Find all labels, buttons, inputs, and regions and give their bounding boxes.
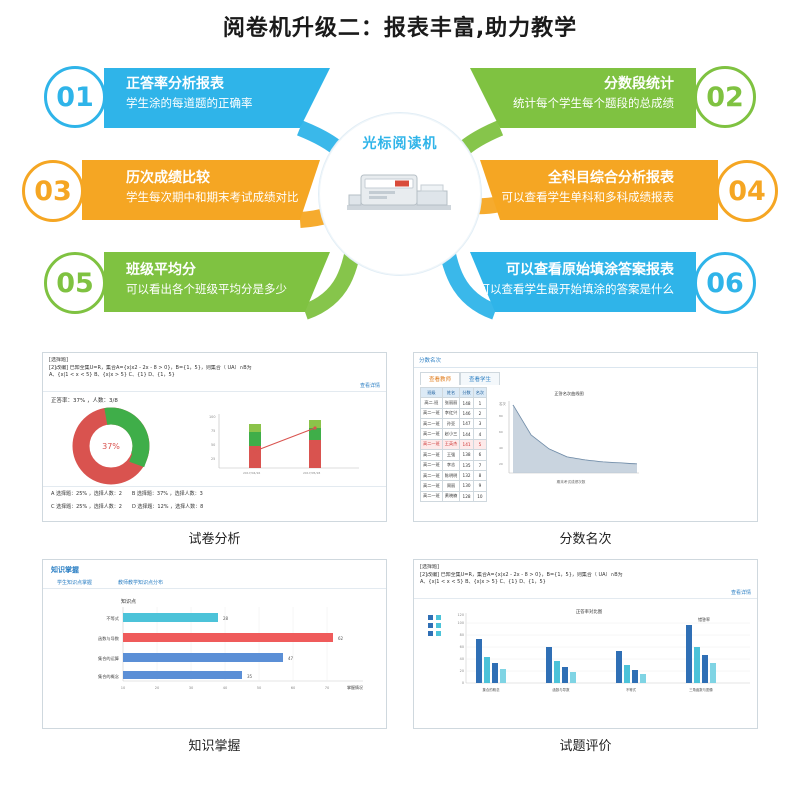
svg-text:50: 50 [211, 443, 215, 447]
badge-number-06: 06 [694, 252, 756, 314]
card-body-exam-analysis: [选择题] [2]改编] 已知全集U=R，集合A={x|x2 - 2x - 8 … [42, 352, 387, 522]
svg-text:10: 10 [121, 686, 126, 690]
svg-text:47: 47 [288, 656, 294, 661]
chart-title-eval: 正答率对比图 [576, 608, 603, 615]
question-line-1: [2]改编] 已知全集U=R，集合A={x|x2 - 2x - 8 > 0}，B… [49, 365, 380, 373]
svg-text:80: 80 [499, 414, 503, 418]
cat-label-3: 集合的概念 [98, 673, 120, 680]
feature-item-03: 历次成绩比较 学生每次期中和期末考试成绩对比 [118, 164, 307, 210]
feature-desc-06: 可以查看学生最开始填涂的答案是什么 [479, 281, 675, 298]
option-stat-b: B 选择题：37% ，选择人数：3 [132, 490, 203, 497]
scanner-machine-icon [341, 161, 459, 223]
feature-desc-03: 学生每次期中和期末考试成绩对比 [126, 189, 299, 206]
accuracy-stats: 正答率：37% ，人数：3/8 [43, 392, 386, 406]
question-line-2: A、{x|1 < x < 5} B、{x|x > 5} C、{1} D、{1，5… [49, 372, 380, 380]
rank-line-chart: 正答名次曲线图 名次 8060 4020 期末考试成绩次数 [491, 387, 646, 502]
svg-text:35: 35 [247, 674, 253, 679]
cat-label-0: 不等式 [106, 615, 119, 622]
svg-text:80: 80 [460, 633, 464, 637]
option-stats-row-2: C 选择题：25% ，选择人数：2 D 选择题：12% ，选择人数：8 [43, 500, 386, 513]
bar-0 [123, 613, 218, 622]
table-row: 高二一班李志1357 [421, 460, 487, 470]
y-axis-label: 名次 [499, 401, 506, 406]
badge-number-01: 01 [44, 66, 106, 128]
card-body-question-evaluation: [选择题] [2]改编] 已知全集U=R，集合A={x|x2 - 2x - 8 … [413, 559, 758, 729]
bar-2 [123, 653, 283, 662]
feature-item-04: 全科目综合分析报表 可以查看学生单科和多科成绩报表 [494, 164, 683, 210]
svg-text:60: 60 [460, 645, 464, 649]
bar-3 [123, 671, 242, 679]
legend [428, 615, 441, 636]
panel-header-score-rank: 分数名次 [414, 353, 757, 368]
table-row-highlighted: 高二一班王英杰1415 [421, 439, 487, 449]
option-stat-d: D 选择题：12% ，选择人数：8 [132, 503, 203, 510]
card-body-score-rank: 分数名次 查看教师 查看学生 班级 姓名 分数 名次 [413, 352, 758, 522]
card-exam-analysis: [选择题] [2]改编] 已知全集U=R，集合A={x|x2 - 2x - 8 … [42, 352, 387, 557]
badge-number-04: 04 [716, 160, 778, 222]
question-box-2: [选择题] [2]改编] 已知全集U=R，集合A={x|x2 - 2x - 8 … [414, 560, 757, 589]
table-row: 高二一班王强1386 [421, 450, 487, 460]
tab-view-student[interactable]: 查看学生 [460, 372, 500, 385]
knowledge-bar-chart: 知识点 28 62 47 35 [43, 589, 387, 707]
svg-text:100: 100 [209, 415, 215, 419]
feature-title-01: 正答率分析报表 [126, 74, 253, 95]
svg-text:100: 100 [458, 621, 464, 625]
tab-view-teacher[interactable]: 查看教师 [420, 372, 460, 385]
col-rank: 名次 [473, 388, 486, 398]
feature-desc-02: 统计每个学生每个题段的总成绩 [513, 95, 674, 112]
svg-text:70: 70 [325, 686, 330, 690]
feature-title-06: 可以查看原始填涂答案报表 [479, 260, 675, 281]
svg-text:20: 20 [155, 686, 160, 690]
x-tick-3: 三角函数与图像 [689, 687, 713, 692]
card-caption-knowledge: 知识掌握 [42, 729, 387, 764]
feature-title-05: 班级平均分 [126, 260, 287, 281]
feature-item-06: 可以查看原始填涂答案报表 可以查看学生最开始填涂的答案是什么 [471, 256, 683, 302]
badge-number-03: 03 [22, 160, 84, 222]
svg-text:60: 60 [499, 430, 503, 434]
question-line-0: [选择题] [49, 357, 380, 365]
stacked-bar-chart: 10075 5025 [199, 406, 364, 486]
card-caption-exam-analysis: 试卷分析 [42, 522, 387, 557]
feature-title-03: 历次成绩比较 [126, 168, 299, 189]
question-line-1b: [2]改编] 已知全集U=R，集合A={x|x2 - 2x - 8 > 0}，B… [420, 572, 751, 580]
svg-text:40: 40 [499, 446, 503, 450]
card-row-1: [选择题] [2]改编] 已知全集U=R，集合A={x|x2 - 2x - 8 … [0, 352, 800, 557]
question-box: [选择题] [2]改编] 已知全集U=R，集合A={x|x2 - 2x - 8 … [43, 353, 386, 382]
card-question-evaluation: [选择题] [2]改编] 已知全集U=R，集合A={x|x2 - 2x - 8 … [413, 559, 758, 764]
page-title: 阅卷机升级二：报表丰富,助力教学 [0, 0, 800, 42]
screenshot-gallery: [选择题] [2]改编] 已知全集U=R，集合A={x|x2 - 2x - 8 … [0, 348, 800, 764]
feature-desc-04: 可以查看学生单科和多科成绩报表 [502, 189, 675, 206]
table-row: 高二.班张丽丽1481 [421, 398, 487, 408]
x-axis-label-knowledge: 掌握情况 [347, 684, 363, 690]
table-row: 高二一班陈明明1328 [421, 470, 487, 480]
svg-text:0: 0 [462, 681, 464, 685]
svg-text:2017/05/18: 2017/05/18 [303, 471, 320, 475]
evaluation-bar-chart: 正答率对比图 错答率 02040 6080100 120 [414, 599, 758, 704]
infographic-diagram: 01 03 05 02 04 06 正答率分析报表 学生涂的每道题的正确率 历次… [0, 48, 800, 348]
question-line-2b: A、{x|1 < x < 5} B、{x|x > 5} C、{1} D、{1，5… [420, 579, 751, 587]
tabbar-score-rank: 查看教师 查看学生 [420, 372, 751, 385]
svg-text:30: 30 [189, 686, 194, 690]
subtab-teacher-distribution[interactable]: 教师教学知识点分布 [118, 579, 163, 586]
svg-text:40: 40 [460, 657, 464, 661]
svg-text:62: 62 [338, 636, 344, 641]
x-tick-0: 集合的概念 [483, 687, 501, 692]
x-axis-label: 期末考试成绩次数 [557, 479, 586, 484]
table-row: 高二一班赵小三1444 [421, 429, 487, 439]
bar-1 [123, 633, 333, 642]
svg-text:28: 28 [223, 616, 229, 621]
option-stat-a: A 选择题：25% ，选择人数：2 [51, 490, 122, 497]
table-row: 高二一班孙亚1473 [421, 419, 487, 429]
badge-number-02: 02 [694, 66, 756, 128]
card-row-2: 知识掌握 学生知识点掌握 教师教学知识点分布 知识点 [0, 559, 800, 764]
feature-item-05: 班级平均分 可以看出各个班级平均分是多少 [118, 256, 295, 302]
table-row: 高二一班黄晓楠12810 [421, 491, 487, 501]
cat-label-1: 函数与导数 [98, 635, 120, 642]
panel-header-knowledge: 知识掌握 [43, 560, 386, 577]
feature-title-02: 分数段统计 [513, 74, 674, 95]
svg-text:120: 120 [458, 613, 464, 617]
col-score: 分数 [460, 388, 473, 398]
x-tick-2: 不等式 [626, 687, 637, 692]
donut-center-label: 37% [102, 442, 120, 451]
feature-desc-01: 学生涂的每道题的正确率 [126, 95, 253, 112]
table-header-row: 班级 姓名 分数 名次 [421, 388, 487, 398]
option-stat-c: C 选择题：25% ，选择人数：2 [51, 503, 122, 510]
feature-item-02: 分数段统计 统计每个学生每个题段的总成绩 [505, 70, 682, 116]
feature-title-04: 全科目综合分析报表 [502, 168, 675, 189]
x-tick-1: 函数与导数 [553, 687, 571, 692]
donut-chart: 37% [49, 406, 199, 486]
subtab-row-knowledge: 学生知识点掌握 教师教学知识点分布 [43, 577, 386, 588]
card-score-rank: 分数名次 查看教师 查看学生 班级 姓名 分数 名次 [413, 352, 758, 557]
card-body-knowledge-mastery: 知识掌握 学生知识点掌握 教师教学知识点分布 知识点 [42, 559, 387, 729]
card-knowledge-mastery: 知识掌握 学生知识点掌握 教师教学知识点分布 知识点 [42, 559, 387, 764]
badge-number-05: 05 [44, 252, 106, 314]
chart-title-knowledge: 知识点 [121, 598, 136, 605]
card-caption-score-rank: 分数名次 [413, 522, 758, 557]
subtab-student-mastery[interactable]: 学生知识点掌握 [57, 579, 92, 586]
chart-title: 正答名次曲线图 [554, 390, 583, 397]
option-stats-row-1: A 选择题：25% ，选择人数：2 B 选择题：37% ，选择人数：3 [43, 487, 386, 500]
legend-right-label: 错答率 [698, 616, 710, 622]
svg-text:40: 40 [223, 686, 228, 690]
feature-desc-05: 可以看出各个班级平均分是多少 [126, 281, 287, 298]
svg-text:20: 20 [460, 669, 464, 673]
cat-label-2: 集合的运算 [98, 655, 119, 662]
center-node: 光标阅读机 [318, 112, 482, 276]
table-row: 高二一班李红兴1462 [421, 408, 487, 418]
table-row: 高二一班周丽1309 [421, 481, 487, 491]
question-line-0b: [选择题] [420, 564, 751, 572]
center-node-label: 光标阅读机 [363, 133, 438, 153]
svg-text:75: 75 [211, 429, 215, 433]
card-caption-evaluation: 试题评价 [413, 729, 758, 764]
svg-text:50: 50 [257, 686, 262, 690]
svg-text:20: 20 [499, 462, 503, 466]
col-name: 姓名 [442, 388, 460, 398]
svg-text:60: 60 [291, 686, 296, 690]
svg-text:2017/04/16: 2017/04/16 [243, 471, 260, 475]
svg-text:25: 25 [211, 457, 215, 461]
detail-link-2[interactable]: 查看详情 [414, 589, 757, 598]
feature-item-01: 正答率分析报表 学生涂的每道题的正确率 [118, 70, 261, 116]
detail-link[interactable]: 查看详情 [43, 382, 386, 391]
col-class: 班级 [421, 388, 443, 398]
score-rank-table: 班级 姓名 分数 名次 高二.班张丽丽1481 高二一班李红兴1462 高二一班… [420, 387, 487, 502]
